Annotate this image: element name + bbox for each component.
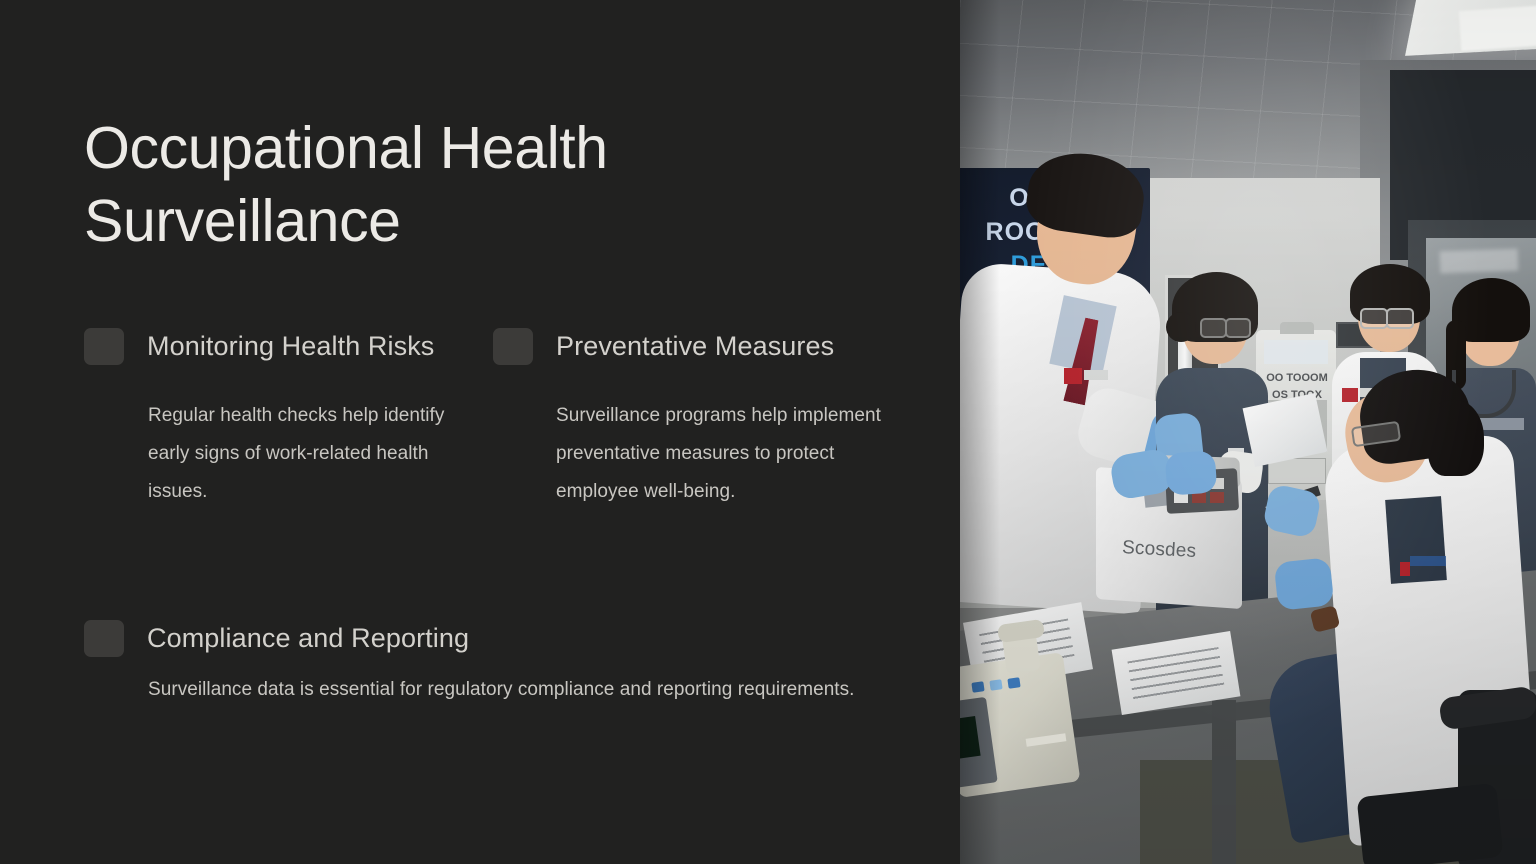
feature-title: Compliance and Reporting bbox=[147, 623, 469, 654]
page-title: Occupational Health Surveillance bbox=[84, 112, 704, 258]
office-chair-seat bbox=[1357, 783, 1504, 864]
feature-body: Surveillance programs help implement pre… bbox=[556, 397, 886, 510]
medical-cart-screen bbox=[1264, 340, 1328, 364]
analyzer-button bbox=[1210, 492, 1224, 503]
rounded-square-icon bbox=[84, 328, 124, 365]
feature-title: Preventative Measures bbox=[556, 331, 834, 362]
ceiling-light-glow bbox=[1459, 5, 1536, 51]
feature-header: Monitoring Health Risks bbox=[84, 328, 448, 365]
feature-item-compliance-and-reporting: Compliance and Reporting Surveillance da… bbox=[84, 620, 888, 709]
content-panel: Occupational Health Surveillance Monitor… bbox=[0, 0, 960, 864]
seated-person-coat-embroidery bbox=[1410, 556, 1446, 566]
slide: Occupational Health Surveillance Monitor… bbox=[0, 0, 1536, 864]
feature-body: Surveillance data is essential for regul… bbox=[148, 671, 888, 709]
seated-person-coat-logo bbox=[1400, 562, 1410, 576]
person-center-glasses-left-lens bbox=[1200, 318, 1227, 338]
seated-person-scrubs bbox=[1385, 496, 1447, 584]
person-center-glasses-right-lens bbox=[1225, 318, 1251, 338]
feature-header: Compliance and Reporting bbox=[84, 620, 888, 657]
medical-cart-handle bbox=[1280, 322, 1314, 334]
laboratory-team-photo: OAST ROOTBIE DELE OO TOOOM OS TOOX bbox=[960, 0, 1536, 864]
person-left-coat-logo bbox=[1064, 368, 1082, 384]
person-center-hair-bun bbox=[1166, 312, 1196, 342]
rounded-square-icon bbox=[493, 328, 533, 365]
sampling-device-button bbox=[989, 679, 1002, 691]
seated-person-hair-back bbox=[1428, 400, 1484, 476]
sampling-device-button bbox=[1007, 677, 1020, 689]
feature-body: Regular health checks help identify earl… bbox=[148, 397, 448, 510]
sampling-device-button bbox=[971, 681, 984, 693]
feature-item-monitoring-health-risks: Monitoring Health Risks Regular health c… bbox=[84, 328, 448, 510]
desk-leg bbox=[1212, 700, 1236, 864]
door-glass-reflection bbox=[1440, 249, 1519, 274]
feature-header: Preventative Measures bbox=[493, 328, 886, 365]
gloved-hand bbox=[1165, 450, 1218, 495]
person-right-glasses-right-lens bbox=[1386, 308, 1414, 329]
rounded-square-icon bbox=[84, 620, 124, 657]
feature-item-preventative-measures: Preventative Measures Surveillance progr… bbox=[493, 328, 886, 510]
cart-text-line-1: OO TOOOM bbox=[1260, 370, 1334, 387]
person-left-coat-logo-text bbox=[1084, 370, 1108, 380]
gloved-hand bbox=[1274, 557, 1335, 611]
person-right-glasses-left-lens bbox=[1360, 308, 1388, 329]
person-right-coat-logo bbox=[1342, 388, 1358, 402]
person-far-right-badge bbox=[1480, 418, 1524, 430]
feature-title: Monitoring Health Risks bbox=[147, 331, 434, 362]
